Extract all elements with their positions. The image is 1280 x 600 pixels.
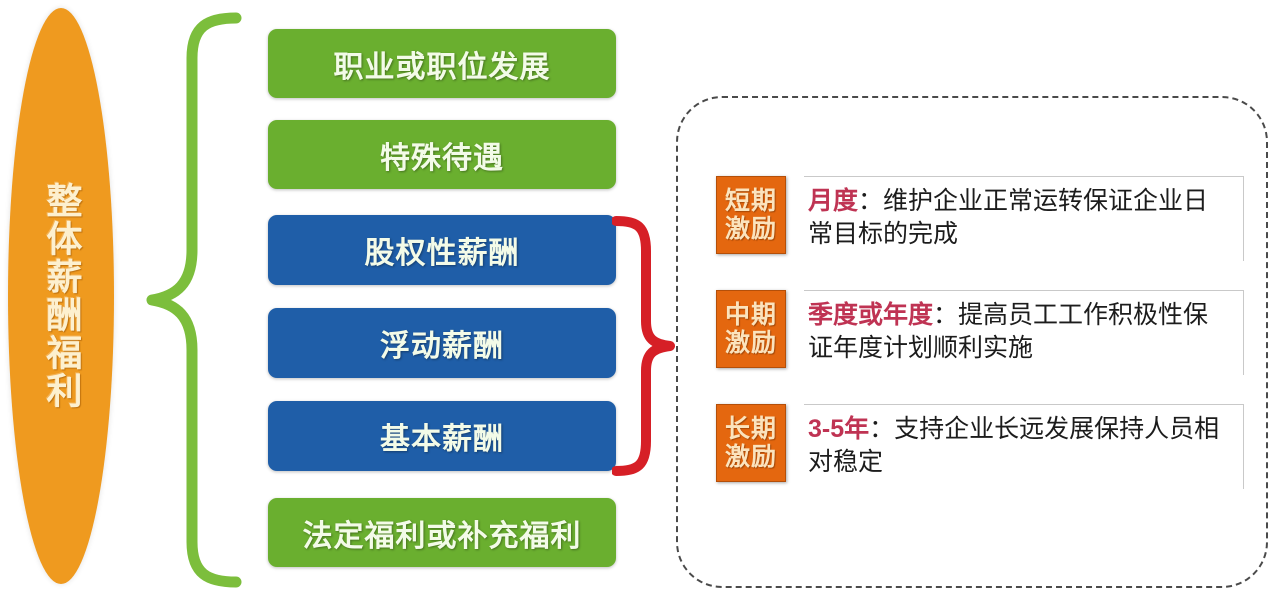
component-box-base-pay[interactable]: 基本薪酬 [268, 401, 616, 471]
diagram-canvas: 整体薪酬福利 职业或职位发展 特殊待遇 股权性薪酬 浮动薪酬 基本薪酬 法定福利… [0, 0, 1280, 600]
incentive-badge-line2: 激励 [725, 329, 777, 357]
root-ellipse[interactable]: 整体薪酬福利 [8, 8, 114, 584]
component-box-variable-pay[interactable]: 浮动薪酬 [268, 308, 616, 378]
incentive-separator: ： [869, 415, 894, 443]
red-brace-icon [612, 215, 684, 477]
root-ellipse-label: 整体薪酬福利 [8, 8, 114, 584]
incentive-period: 3-5年 [808, 415, 869, 443]
incentive-row-mid-term[interactable]: 中期 激励 季度或年度：提高员工工作积极性保证年度计划顺利实施 [716, 290, 1244, 375]
incentive-panel: 短期 激励 月度：维护企业正常运转保证企业日常目标的完成 中期 激励 季度或年度… [676, 96, 1268, 588]
incentive-badge-line1: 中期 [725, 301, 777, 329]
green-brace-icon [112, 12, 242, 588]
incentive-description-mid-term: 季度或年度：提高员工工作积极性保证年度计划顺利实施 [804, 290, 1244, 375]
incentive-badge-line1: 短期 [725, 187, 777, 215]
incentive-period: 季度或年度 [808, 301, 933, 329]
incentive-badge-line2: 激励 [725, 443, 777, 471]
incentive-row-long-term[interactable]: 长期 激励 3-5年：支持企业长远发展保持人员相对稳定 [716, 404, 1244, 489]
component-box-label: 法定福利或补充福利 [303, 511, 582, 555]
incentive-row-short-term[interactable]: 短期 激励 月度：维护企业正常运转保证企业日常目标的完成 [716, 176, 1244, 261]
incentive-badge-line1: 长期 [725, 415, 777, 443]
incentive-period: 月度 [808, 187, 858, 215]
component-box-label: 职业或职位发展 [334, 42, 551, 86]
incentive-badge-long-term[interactable]: 长期 激励 [716, 404, 786, 482]
component-box-label: 股权性薪酬 [365, 228, 520, 272]
component-box-statutory-benefits[interactable]: 法定福利或补充福利 [268, 498, 616, 567]
incentive-badge-short-term[interactable]: 短期 激励 [716, 176, 786, 254]
component-box-equity-pay[interactable]: 股权性薪酬 [268, 215, 616, 285]
component-box-label: 特殊待遇 [380, 133, 504, 177]
incentive-description-long-term: 3-5年：支持企业长远发展保持人员相对稳定 [804, 404, 1244, 489]
component-box-label: 基本薪酬 [380, 414, 504, 458]
component-box-label: 浮动薪酬 [380, 321, 504, 365]
incentive-separator: ： [933, 301, 958, 329]
incentive-badge-mid-term[interactable]: 中期 激励 [716, 290, 786, 368]
component-box-career[interactable]: 职业或职位发展 [268, 29, 616, 98]
component-box-special-benefits[interactable]: 特殊待遇 [268, 120, 616, 189]
incentive-description-short-term: 月度：维护企业正常运转保证企业日常目标的完成 [804, 176, 1244, 261]
incentive-badge-line2: 激励 [725, 215, 777, 243]
incentive-separator: ： [858, 187, 883, 215]
